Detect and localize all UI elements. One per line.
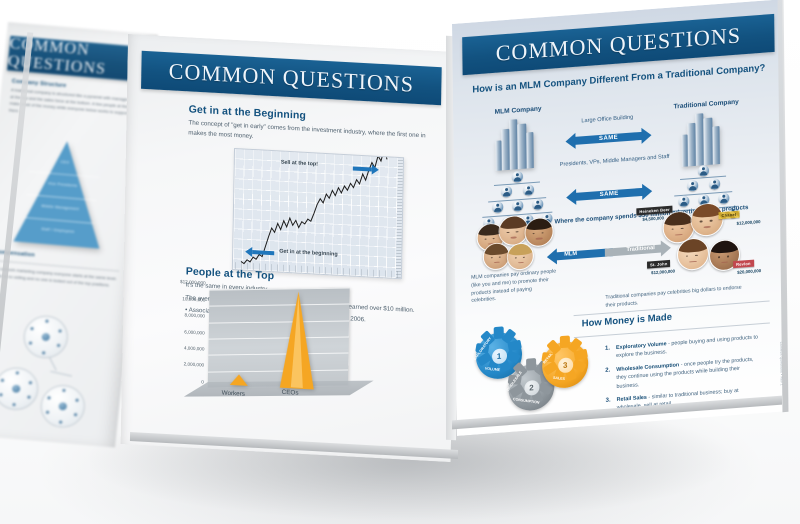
gear-1-line1: EXPLORATORY bbox=[473, 336, 492, 361]
company-structure-pyramid: CEO Vice Presidents Middle Management St… bbox=[13, 138, 110, 249]
endorsement-amount-2: $12,000,000 bbox=[651, 269, 675, 276]
celebrity-endorsements: Heineken Beer $4,500,000 Chanel $12,000,… bbox=[640, 196, 777, 290]
gear-3-text: RETAIL SALES bbox=[542, 340, 589, 389]
cone-ytick-0: 0 bbox=[164, 377, 204, 384]
chart-y-ticks bbox=[396, 158, 403, 278]
spend-arrow-left-label: MLM bbox=[564, 250, 577, 257]
right-panel: COMMON QUESTIONS How is an MLM Company D… bbox=[452, 0, 787, 436]
brochure-photo: COMMON QUESTIONS Company Structure A tra… bbox=[0, 0, 800, 524]
cone-chart-floor bbox=[184, 381, 374, 397]
ordinary-people-faces bbox=[476, 213, 553, 275]
cone-chart-plot bbox=[208, 288, 350, 388]
money-list-number-2: 3. bbox=[606, 396, 611, 406]
money-list-term-2: Retail Sales bbox=[617, 395, 647, 403]
stock-line-chart: Sell at the top! Get in at the beginning bbox=[232, 148, 404, 279]
cone-ytick-5: 10,000,000 bbox=[165, 295, 205, 302]
get-in-beginning-arrow bbox=[245, 247, 275, 259]
gear-2-line2: CONSUMPTION bbox=[513, 397, 540, 405]
gear-3-line2: SALES bbox=[553, 376, 565, 381]
endorsement-amount-0: $4,500,000 bbox=[642, 215, 664, 222]
celebrity-face-1 bbox=[690, 202, 723, 237]
middle-panel: COMMON QUESTIONS Get in at the Beginning… bbox=[121, 34, 458, 462]
gear-3-line1: RETAIL bbox=[542, 352, 553, 365]
cone-ytick-6: $12,000,000 bbox=[166, 278, 206, 285]
network-circle bbox=[39, 383, 87, 429]
cone-ytick-2: 4,000,000 bbox=[164, 344, 204, 351]
cone-xlabel-ceos: CEOs bbox=[282, 389, 299, 397]
cone-ytick-1: 2,000,000 bbox=[164, 360, 204, 367]
cone-bar-ceos-highlight bbox=[291, 295, 305, 388]
cone-xlabel-workers: Workers bbox=[222, 390, 245, 398]
network-circle bbox=[22, 314, 70, 360]
network-circle bbox=[0, 366, 40, 412]
sell-at-top-arrow bbox=[353, 163, 379, 174]
endorsement-tag-1: Chanel bbox=[718, 211, 739, 220]
endorsement-amount-3: $20,000,000 bbox=[737, 268, 761, 275]
cone-bar-workers bbox=[230, 374, 248, 386]
network-cluster-diagram bbox=[0, 312, 110, 437]
mlm-note-text: MLM companies pay ordinary people (like … bbox=[471, 268, 557, 306]
gear-2-line1: WHOLESALE bbox=[506, 370, 523, 391]
traditional-office-building-icon bbox=[681, 112, 726, 167]
gear-retail-sales: RETAIL SALES 3 bbox=[542, 340, 589, 389]
gear-1-line2: VOLUME bbox=[485, 367, 501, 373]
mlm-office-building-icon bbox=[495, 118, 540, 171]
endorsement-tag-2: St. John bbox=[647, 260, 670, 269]
ceo-vs-worker-cone-chart: $12,000,000 10,000,000 8,000,000 6,000,0… bbox=[163, 278, 355, 410]
endorsement-tag-3: Revlon bbox=[733, 260, 754, 269]
endorsement-amount-1: $12,000,000 bbox=[737, 219, 761, 226]
cone-ytick-3: 6,000,000 bbox=[165, 328, 205, 335]
cone-ytick-4: 8,000,000 bbox=[165, 311, 205, 318]
money-list-number-0: 1. bbox=[605, 344, 610, 354]
celebrity-face-2 bbox=[677, 237, 709, 271]
money-list-number-1: 2. bbox=[605, 366, 610, 376]
